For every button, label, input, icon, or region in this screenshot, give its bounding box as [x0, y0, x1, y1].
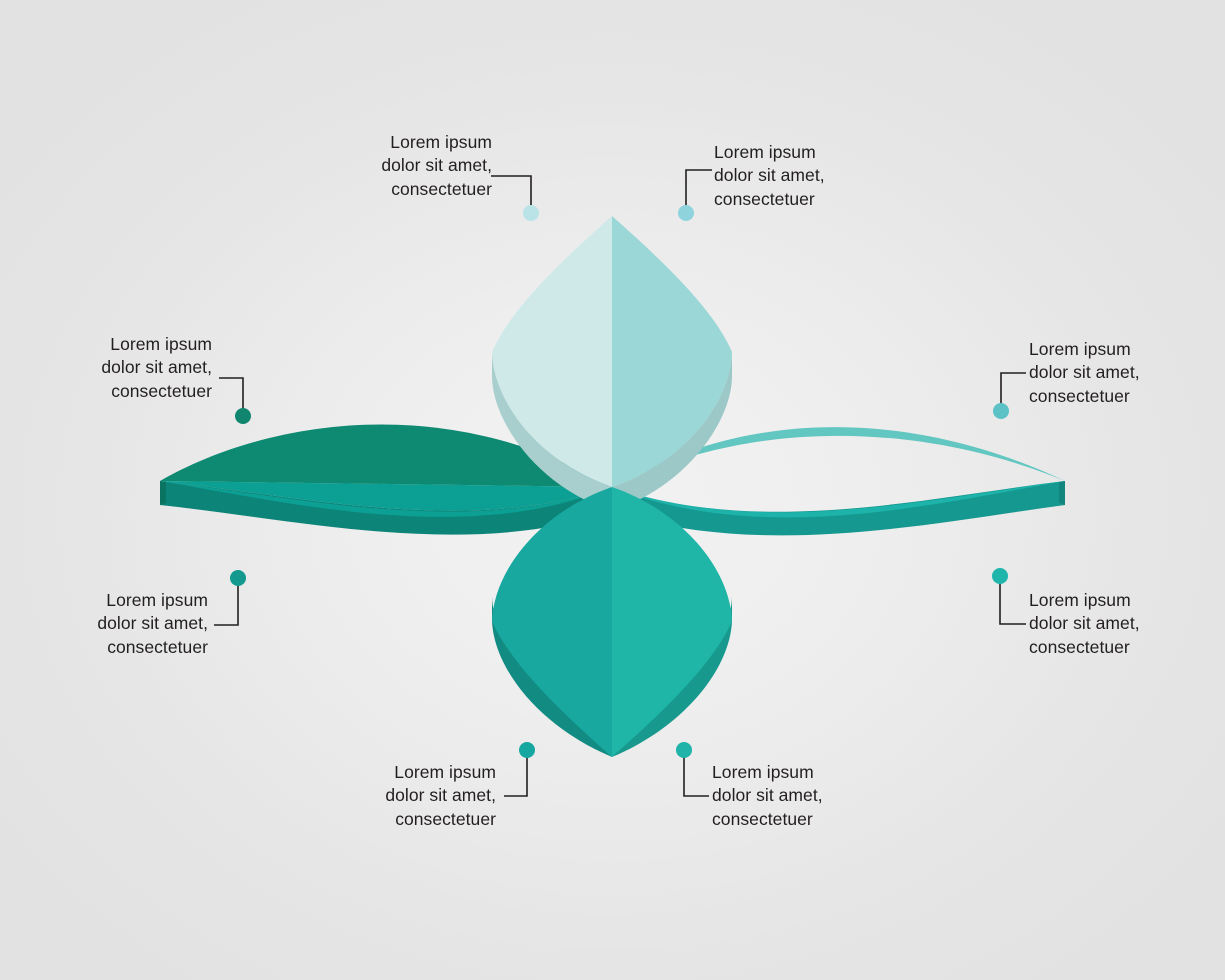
- callout-label-bottom-center-left: Lorem ipsum dolor sit amet, consectetuer: [308, 761, 496, 831]
- callout-dot-top-right[interactable]: [678, 205, 694, 221]
- callout-label-top-right: Lorem ipsum dolor sit amet, consectetuer: [714, 141, 904, 211]
- four-petal-diagram: [0, 0, 1225, 980]
- callout-label-bottom-right: Lorem ipsum dolor sit amet, consectetuer: [1029, 589, 1219, 659]
- callout-dot-bottom-right[interactable]: [992, 568, 1008, 584]
- petal-left-tip-edge: [160, 481, 166, 505]
- petal-right-tip-edge: [1059, 481, 1065, 505]
- callout-dot-bottom-center-right[interactable]: [676, 742, 692, 758]
- callout-dot-middle-right[interactable]: [993, 403, 1009, 419]
- callout-dot-middle-left[interactable]: [235, 408, 251, 424]
- callout-label-bottom-center-right: Lorem ipsum dolor sit amet, consectetuer: [712, 761, 902, 831]
- connector-top-left: [491, 176, 531, 213]
- callout-label-bottom-left: Lorem ipsum dolor sit amet, consectetuer: [18, 589, 208, 659]
- infographic-canvas: Lorem ipsum dolor sit amet, consectetuer…: [0, 0, 1225, 980]
- callout-dot-bottom-left[interactable]: [230, 570, 246, 586]
- callout-label-middle-right: Lorem ipsum dolor sit amet, consectetuer: [1029, 338, 1219, 408]
- callout-dot-bottom-center-left[interactable]: [519, 742, 535, 758]
- callout-dot-top-left[interactable]: [523, 205, 539, 221]
- callout-label-top-left: Lorem ipsum dolor sit amet, consectetuer: [312, 131, 492, 201]
- callout-label-middle-left: Lorem ipsum dolor sit amet, consectetuer: [22, 333, 212, 403]
- connector-bottom-right: [1000, 576, 1026, 624]
